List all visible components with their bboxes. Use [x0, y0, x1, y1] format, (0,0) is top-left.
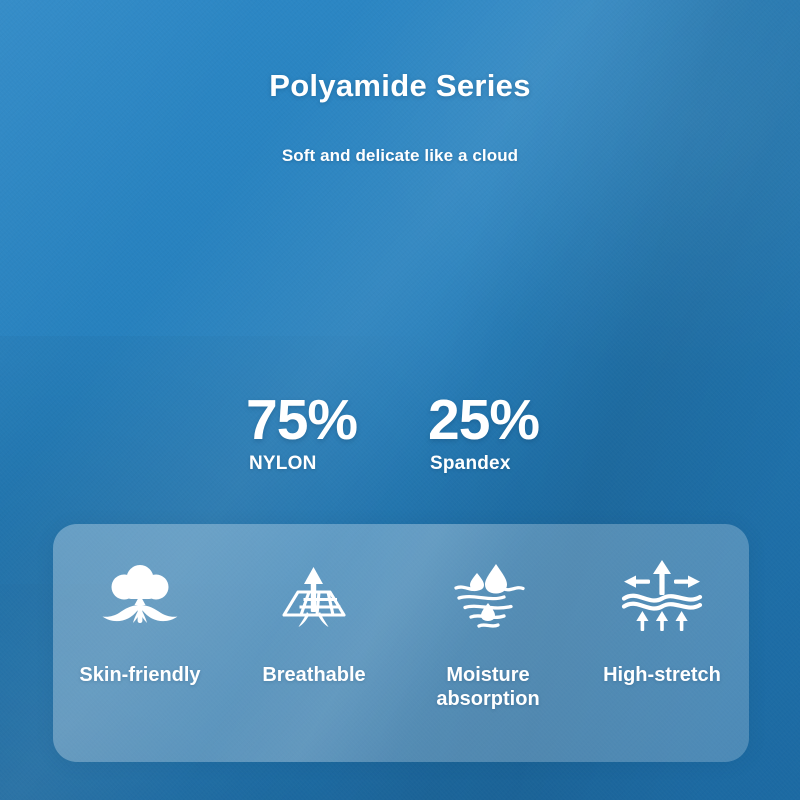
composition-item-spandex: 25% Spandex [428, 392, 539, 475]
feature-breathable: Breathable [227, 524, 401, 688]
composition-percent: 75% [246, 392, 357, 449]
feature-high-stretch: High-stretch [575, 524, 749, 688]
composition-group: 75% NYLON 25% Spandex [0, 392, 800, 492]
feature-moisture-absorption: Moistureabsorption [401, 524, 575, 711]
feature-list: Skin-friendly [53, 524, 749, 762]
page-subtitle: Soft and delicate like a cloud [0, 146, 800, 166]
feature-label: Breathable [262, 664, 365, 688]
feature-label: High-stretch [603, 664, 721, 688]
water-absorption-icon [446, 554, 530, 638]
composition-item-nylon: 75% NYLON [246, 392, 357, 475]
composition-percent: 25% [428, 392, 539, 449]
product-poster: Polyamide Series Soft and delicate like … [0, 0, 800, 800]
feature-label: Moistureabsorption [436, 664, 539, 711]
composition-material: Spandex [428, 453, 539, 475]
feature-label: Skin-friendly [79, 664, 200, 688]
feature-skin-friendly: Skin-friendly [53, 524, 227, 688]
cotton-boll-icon [98, 554, 182, 638]
mesh-airflow-icon [272, 554, 356, 638]
stretch-arrows-icon [620, 554, 704, 638]
feature-panel: Skin-friendly [53, 524, 749, 762]
composition-material: NYLON [246, 453, 357, 475]
page-title: Polyamide Series [0, 68, 800, 104]
